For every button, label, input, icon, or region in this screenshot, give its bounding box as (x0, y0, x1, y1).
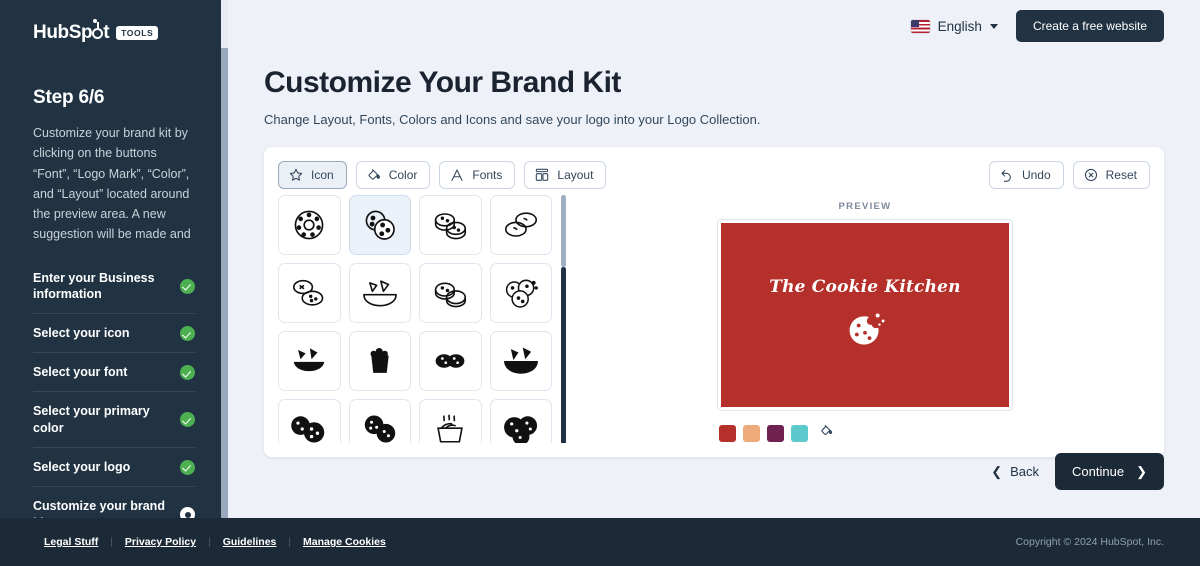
copyright-text: Copyright © 2024 HubSpot, Inc. (1016, 536, 1164, 548)
icon-grid (278, 195, 566, 443)
wizard-navigation: ❮ Back Continue ❯ (991, 453, 1164, 490)
icon-tile-stacked-sandwich-cookies[interactable] (419, 195, 482, 255)
checklist-label: Select your font (33, 364, 127, 381)
hubspot-logo[interactable]: HubSpt TOOLS (0, 18, 228, 44)
checklist-label: Select your logo (33, 459, 130, 476)
page-title: Customize Your Brand Kit (264, 62, 1164, 100)
check-complete-icon (180, 412, 195, 427)
swatch-plum[interactable] (767, 425, 784, 442)
logo-text: The Cookie Kitchen (769, 277, 961, 297)
icon-tile-donut[interactable] (278, 195, 341, 255)
progress-checklist: Enter your Business information Select y… (0, 245, 228, 543)
editor-body: PREVIEW The Cookie Kitchen (264, 195, 1164, 457)
history-button-group: Undo Reset (989, 161, 1150, 189)
footer-link-privacy-policy[interactable]: Privacy Policy (125, 536, 196, 548)
reset-icon (1083, 167, 1099, 183)
check-complete-icon (180, 279, 195, 294)
logo-canvas[interactable]: The Cookie Kitchen (721, 223, 1009, 407)
undo-button[interactable]: Undo (989, 161, 1064, 189)
chevron-left-icon: ❮ (991, 465, 1002, 478)
footer-separator: | (110, 537, 113, 548)
back-button[interactable]: ❮ Back (991, 464, 1039, 479)
tool-label: Color (389, 168, 418, 182)
footer-link-guidelines[interactable]: Guidelines (223, 536, 277, 548)
icon-tile-bread-basket[interactable] (419, 399, 482, 443)
checklist-item-icon[interactable]: Select your icon (33, 314, 195, 353)
editor-toolbar: Icon Color (264, 147, 1164, 195)
footer-link-legal-stuff[interactable]: Legal Stuff (44, 536, 98, 548)
color-swatch-row (717, 411, 1013, 443)
icon-tile-popcorn-bucket[interactable] (349, 331, 412, 391)
check-complete-icon (180, 326, 195, 341)
icon-tile-cookie-cluster[interactable] (490, 399, 553, 443)
checklist-label: Enter your Business information (33, 270, 172, 304)
icon-grid-scrollbar-thumb[interactable] (561, 267, 566, 443)
brand-kit-editor: Icon Color (264, 147, 1164, 457)
checklist-label: Select your icon (33, 325, 130, 342)
brand-word-left: HubSp (33, 22, 92, 43)
sidebar: HubSpt TOOLS Step 6/6 Customize your bra… (0, 0, 228, 566)
undo-icon (999, 167, 1015, 183)
footer-separator: | (288, 537, 291, 548)
brand-word-right: t (103, 22, 109, 43)
check-complete-icon (180, 460, 195, 475)
swatch-turquoise[interactable] (791, 425, 808, 442)
main-content: Customize Your Brand Kit Change Layout, … (228, 52, 1200, 504)
sidebar-description: Customize your brand kit by clicking on … (0, 109, 228, 245)
create-free-website-button[interactable]: Create a free website (1016, 10, 1164, 42)
cookie-bite-icon (843, 311, 887, 354)
check-complete-icon (180, 365, 195, 380)
tool-label: Icon (311, 168, 334, 182)
icon-tile-two-chocolate-chip-cookies[interactable] (349, 195, 412, 255)
continue-label: Continue (1072, 464, 1124, 479)
icon-tile-two-plain-cookies[interactable] (490, 195, 553, 255)
preview-label: PREVIEW (839, 195, 892, 219)
tool-label: Layout (557, 168, 593, 182)
footer-separator: | (208, 537, 211, 548)
icon-tile-cookie-stack[interactable] (419, 263, 482, 323)
preview-frame: The Cookie Kitchen (717, 219, 1013, 411)
reset-button[interactable]: Reset (1073, 161, 1150, 189)
language-label: English (938, 19, 982, 34)
us-flag-icon (911, 20, 930, 33)
icon-tile-three-cookies[interactable] (278, 399, 341, 443)
chevron-right-icon: ❯ (1136, 465, 1147, 478)
checklist-item-font[interactable]: Select your font (33, 353, 195, 392)
letter-a-icon (449, 167, 465, 183)
back-label: Back (1010, 464, 1039, 479)
tool-color-button[interactable]: Color (356, 161, 431, 189)
icon-tile-two-small-cookies[interactable] (419, 331, 482, 391)
preview-panel: PREVIEW The Cookie Kitchen (580, 195, 1150, 443)
footer-links: Legal Stuff | Privacy Policy | Guideline… (44, 536, 386, 548)
tool-icon-button[interactable]: Icon (278, 161, 347, 189)
icon-tile-nachos-plate[interactable] (278, 331, 341, 391)
page-footer: Legal Stuff | Privacy Policy | Guideline… (0, 518, 1200, 566)
paint-bucket-icon (366, 167, 382, 183)
language-selector[interactable]: English (911, 19, 998, 34)
paint-bucket-icon[interactable] (819, 423, 834, 443)
icon-tile-cookie-pile[interactable] (490, 263, 553, 323)
icon-tile-cookie-trio[interactable] (349, 399, 412, 443)
checklist-item-logo[interactable]: Select your logo (33, 448, 195, 487)
step-title: Step 6/6 (0, 44, 228, 109)
brand-wordmark: HubSpt (33, 22, 109, 44)
tool-label: Fonts (472, 168, 502, 182)
icon-tile-nachos-bowl[interactable] (490, 331, 553, 391)
continue-button[interactable]: Continue ❯ (1055, 453, 1164, 490)
tools-badge: TOOLS (116, 26, 158, 40)
icon-tile-chips-bowl[interactable] (349, 263, 412, 323)
sidebar-scrollbar-thumb[interactable] (221, 48, 228, 518)
checklist-label: Select your primary color (33, 403, 172, 437)
icon-grid-scrollbar-upper (561, 195, 566, 267)
star-icon (288, 167, 304, 183)
chevron-down-icon (990, 24, 998, 29)
undo-label: Undo (1022, 168, 1051, 182)
page-subtitle: Change Layout, Fonts, Colors and Icons a… (264, 100, 1164, 127)
sidebar-scrollbar-track[interactable] (221, 0, 228, 566)
sprocket-icon (92, 28, 103, 39)
tool-fonts-button[interactable]: Fonts (439, 161, 515, 189)
icon-grid-scrollbar-track[interactable] (561, 195, 566, 443)
tool-button-group: Icon Color (278, 161, 606, 189)
icon-tile-cookie-pair-with-crumbs[interactable] (278, 263, 341, 323)
layout-grid-icon (534, 167, 550, 183)
reset-label: Reset (1106, 168, 1137, 182)
icon-picker-panel (278, 195, 566, 443)
tool-layout-button[interactable]: Layout (524, 161, 606, 189)
top-bar: English Create a free website (228, 0, 1200, 52)
footer-link-manage-cookies[interactable]: Manage Cookies (303, 536, 386, 548)
swatch-peach[interactable] (743, 425, 760, 442)
swatch-red[interactable] (719, 425, 736, 442)
checklist-item-primary-color[interactable]: Select your primary color (33, 392, 195, 448)
checklist-item-business-info[interactable]: Enter your Business information (33, 259, 195, 315)
